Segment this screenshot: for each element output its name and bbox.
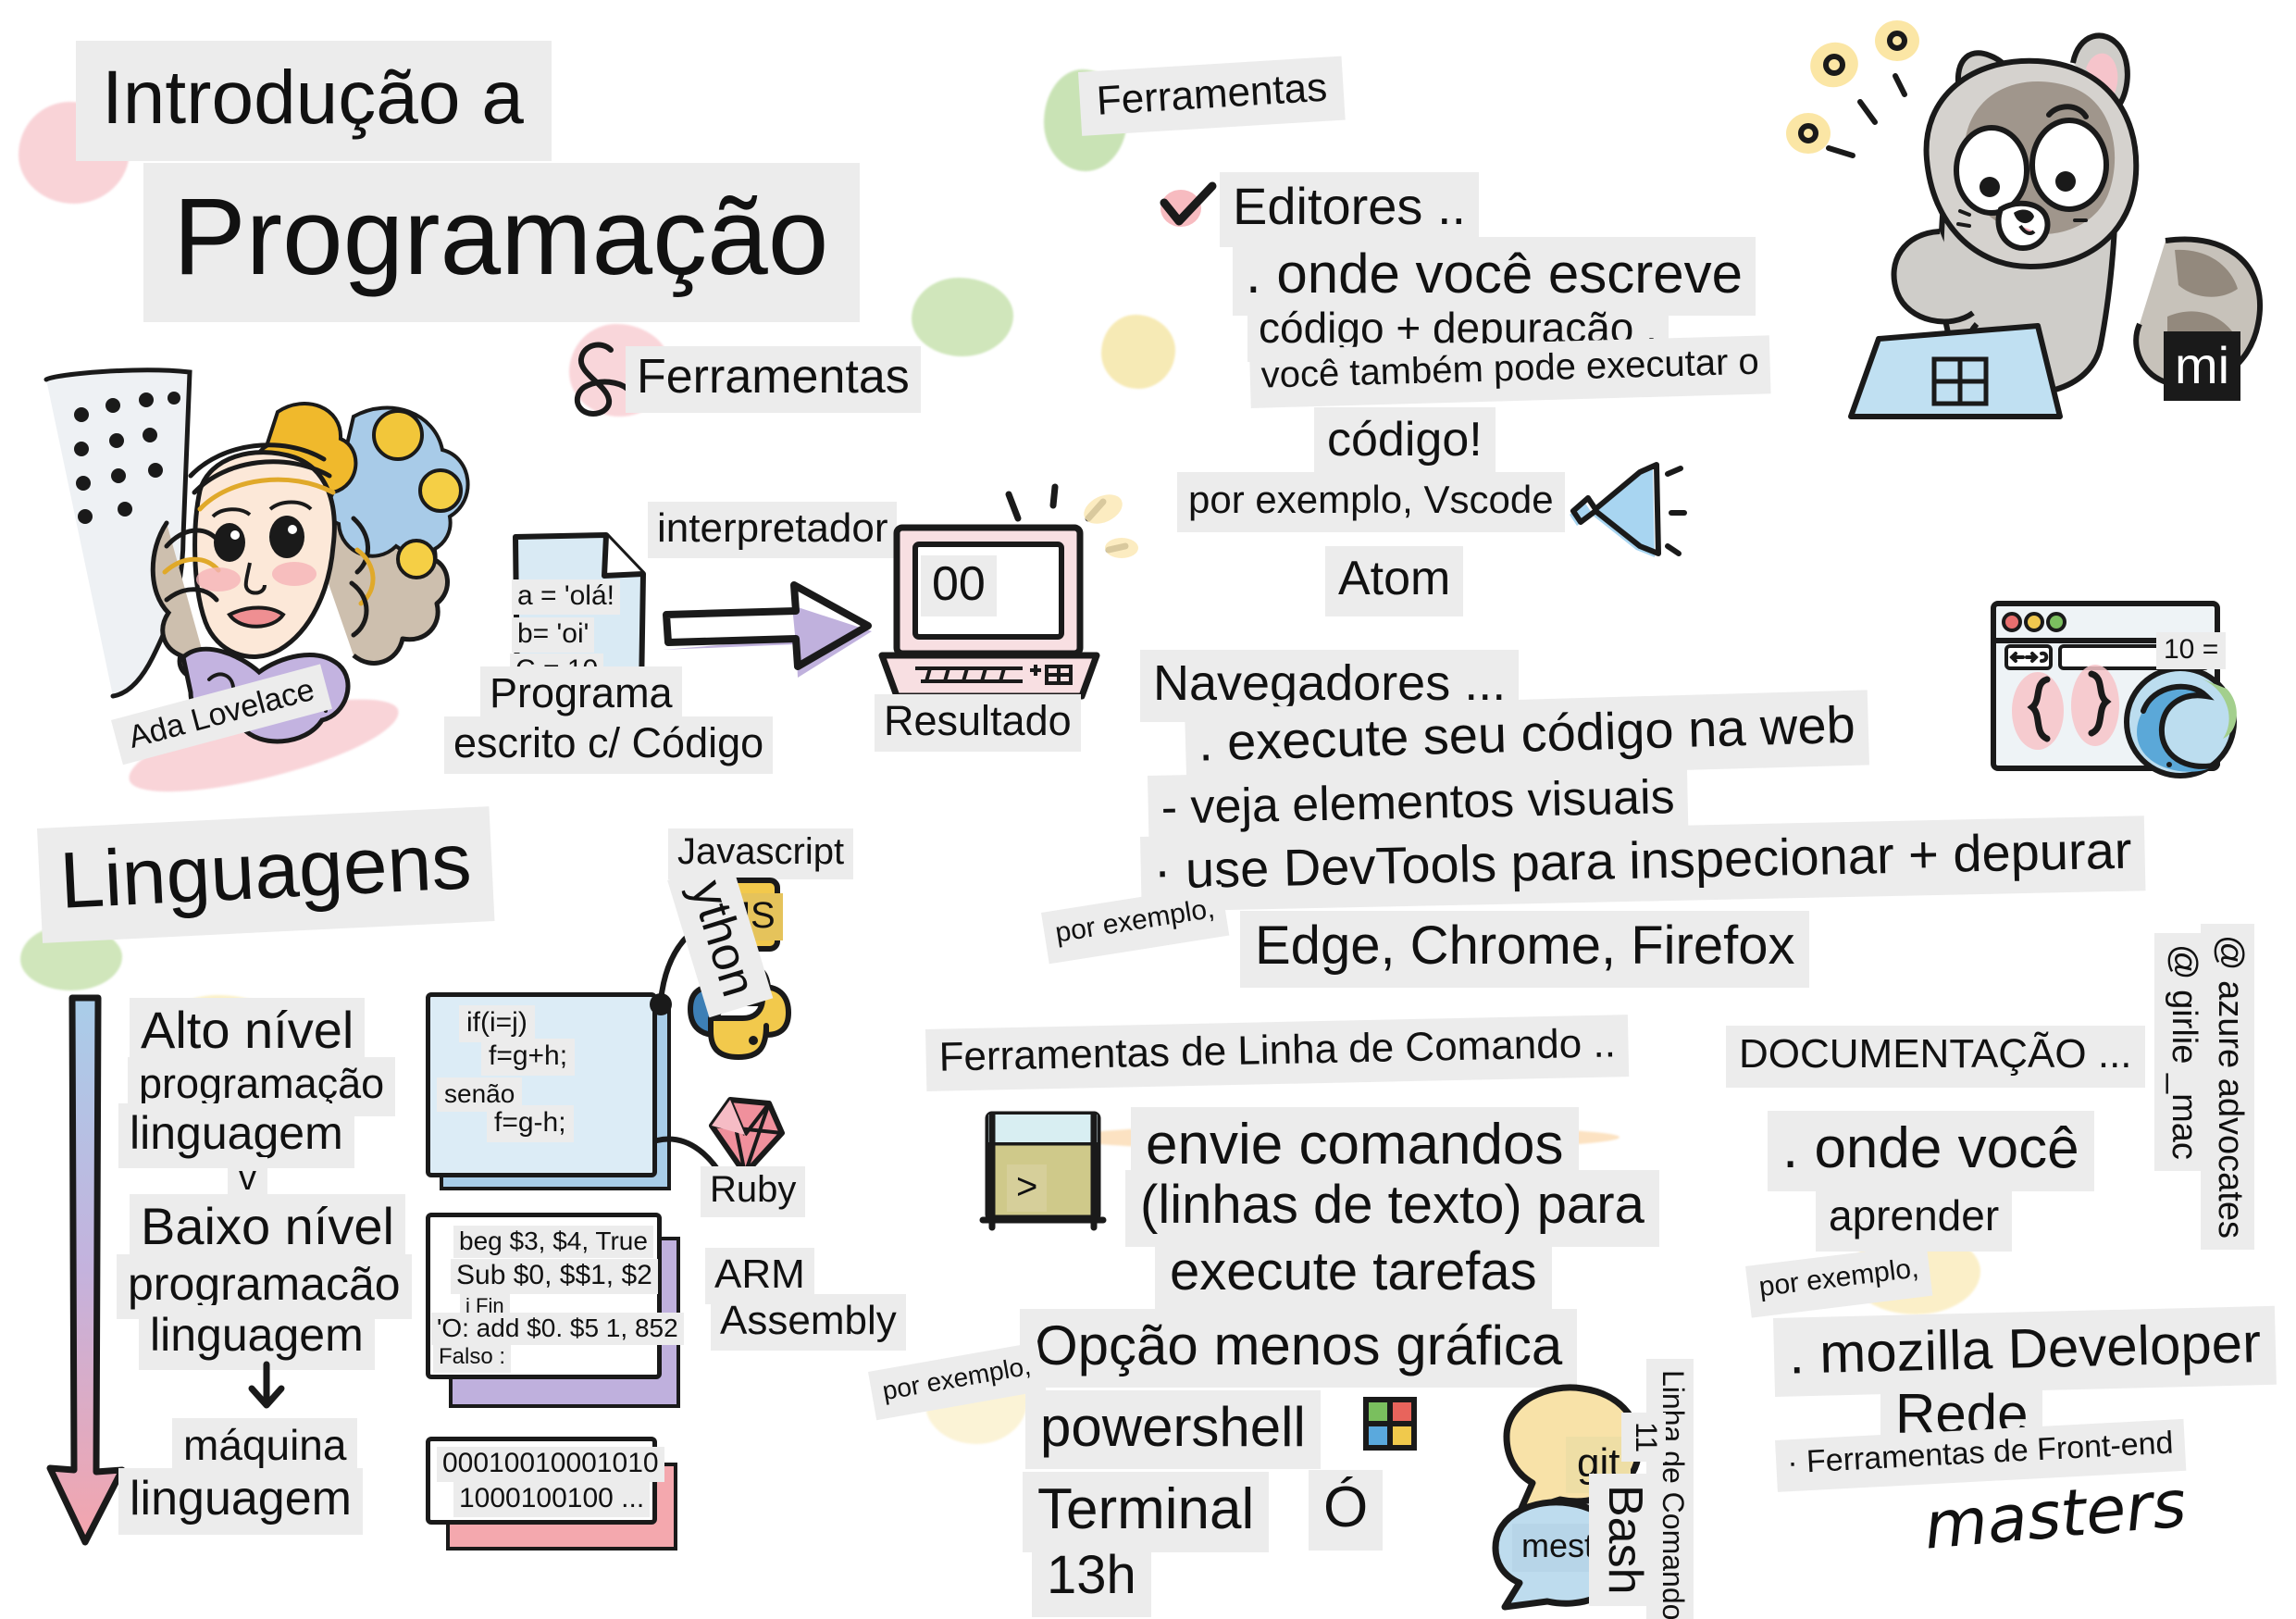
cli-line-3: execute tarefas (1155, 1237, 1552, 1314)
code-high-line-4: f=g-h; (487, 1105, 574, 1142)
sketchnote-canvas: Introdução a Programação (0, 0, 2296, 1619)
code-asm-line-4: 'O: add $0. $5 1, 852 (431, 1313, 684, 1345)
code-high-line-1: if(i=j) (459, 1005, 535, 1042)
browsers-examples: Edge, Chrome, Firefox (1240, 911, 1809, 988)
browsers-example-label: por exemplo, (1041, 884, 1230, 964)
cli-vertical-number: 11 (1621, 1413, 1666, 1462)
cli-hours-label: 13h (1032, 1540, 1151, 1617)
browser-window-illustration (1980, 592, 2286, 796)
result-label: Resultado (875, 694, 1081, 752)
result-screen-value: 00 (921, 555, 997, 616)
raccoon-badge: mi (2164, 331, 2240, 401)
cli-heading: Ferramentas de Linha de Comando .. (925, 1015, 1630, 1091)
windows-icon (1359, 1392, 1425, 1459)
docs-line-2: aprender (1816, 1187, 2012, 1252)
interpreter-label: interpretador (648, 502, 897, 558)
cli-terminal-extra: Ó (1309, 1470, 1383, 1551)
page-title-line2: Programação (143, 163, 860, 322)
code-high-line-2: f=g+h; (481, 1039, 575, 1076)
handle-girlie-mac: @ girlie _mac (2154, 933, 2208, 1171)
program-code-line-1: a = 'olá! (512, 579, 620, 615)
interpreter-arrow-icon (657, 578, 879, 679)
cli-powershell-label: powershell (1025, 1390, 1321, 1469)
result-sparks-icon (999, 481, 1129, 602)
cli-line-2: (linhas de texto) para (1125, 1170, 1659, 1247)
ampersand-icon (553, 337, 637, 420)
tools-tag-left: Ferramentas (626, 346, 921, 413)
editors-line-4: código! (1314, 407, 1496, 478)
editors-example-atom: Atom (1325, 546, 1463, 616)
language-ruby-label: Ruby (701, 1166, 805, 1217)
program-label-line2: escrito c/ Código (444, 716, 773, 774)
code-asm-line-5: Falso : (433, 1344, 511, 1373)
editors-heading: Editores .. (1220, 172, 1479, 247)
handle-azure-advocates: @ azure advocates (2201, 924, 2254, 1250)
machine-label-2: linguagem (118, 1468, 363, 1535)
cli-bash-label: Bash (1589, 1474, 1657, 1606)
browser-window-badge: 10 = (2156, 632, 2226, 669)
docs-line-1: . onde você (1768, 1111, 2094, 1191)
code-bin-line-1: 00010010001010 (437, 1447, 664, 1482)
terminal-prompt-glyph: > (1007, 1164, 1047, 1212)
docs-heading: DOCUMENTAÇÃO ... (1726, 1026, 2145, 1088)
blob-yellow-tag (1101, 315, 1175, 389)
code-asm-line-2: Sub $0, $$1, $2 (451, 1259, 658, 1294)
code-bin-line-2: 1000100100 ... (453, 1482, 650, 1517)
languages-heading: Linguagens (37, 806, 494, 943)
vscode-icon (1564, 461, 1684, 572)
language-arm-label-2: Assembly (711, 1294, 906, 1351)
blob-green-title (912, 278, 1013, 356)
tools-tag-top: Ferramentas (1078, 56, 1346, 137)
program-code-line-2: b= 'oi' (512, 617, 594, 653)
down-arrow-icon (239, 1359, 294, 1414)
editors-example-vscode: por exemplo, Vscode (1177, 472, 1565, 532)
code-asm-line-1: beg $3, $4, True (453, 1226, 653, 1258)
page-title-line1: Introdução a (76, 41, 552, 161)
check-icon (1157, 181, 1222, 241)
